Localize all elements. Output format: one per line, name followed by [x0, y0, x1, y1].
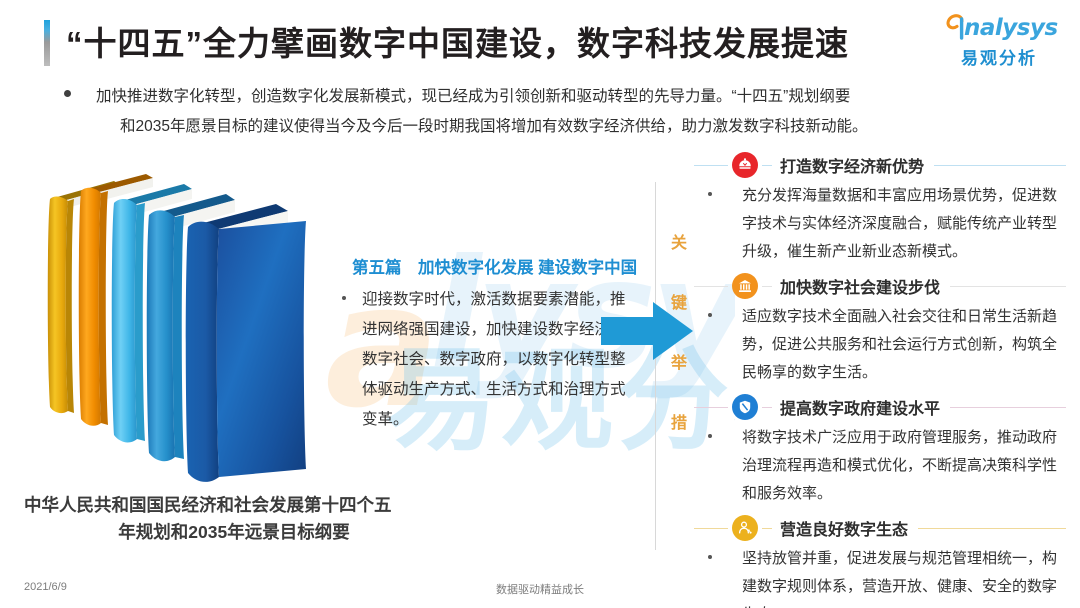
lead-paragraph: 加快推进数字化转型，创造数字化发展新模式，现已经成为引领创新和驱动转型的先导力量…	[64, 82, 1026, 142]
chapter-body: 迎接数字时代，激活数据要素潜能，推进网络强国建设，加快建设数字经济、数字社会、数…	[336, 285, 636, 435]
section-text: 将数字技术广泛应用于政府管理服务，推动政府治理流程再造和模式优化，不断提高决策科…	[742, 424, 1066, 508]
section-text: 适应数字技术全面融入社会交往和日常生活新趋势，促进公共服务和社会运行方式创新，构…	[742, 303, 1066, 387]
section-rule-left	[694, 165, 728, 166]
section-rule-mid	[762, 528, 772, 529]
logo-chinese-name: 易观分析	[940, 44, 1058, 69]
section-rule-mid	[762, 165, 772, 166]
books-caption-line-1: 中华人民共和国国民经济和社会发展第十四个五	[24, 495, 392, 515]
section-rule-right	[950, 286, 1066, 287]
right-arrow-icon	[601, 300, 693, 367]
section-rule-mid	[762, 407, 772, 408]
section-rule-left	[694, 528, 728, 529]
key-measures-panel: 打造数字经济新优势 充分发挥海量数据和丰富应用场景优势，促进数字技术与实体经济深…	[694, 150, 1066, 608]
government-building-icon	[732, 273, 758, 299]
books-caption: 中华人民共和国国民经济和社会发展第十四个五 年规划和2035年远景目标纲要	[24, 492, 444, 546]
books-illustration	[36, 163, 316, 493]
section-bullet-icon	[708, 192, 712, 196]
key-measures-char-0: 关	[668, 214, 690, 274]
chapter-bullet-icon	[342, 296, 346, 300]
lead-bullet-icon	[64, 90, 71, 97]
slide-footer: 2021/6/9 数据驱动精益成长 51	[0, 574, 1080, 608]
section-bullet-icon	[708, 313, 712, 317]
slide-root: a lysys 易观分析 “十四五”全力擘画数字中国建设，数字科技发展提速 na…	[0, 0, 1080, 608]
measure-section-0: 打造数字经济新优势 充分发挥海量数据和丰富应用场景优势，促进数字技术与实体经济深…	[694, 150, 1066, 266]
section-rule-right	[950, 407, 1066, 408]
books-caption-line-2: 年规划和2035年远景目标纲要	[24, 519, 444, 546]
section-text: 充分发挥海量数据和丰富应用场景优势，促进数字技术与实体经济深度融合，赋能传统产业…	[742, 182, 1066, 266]
user-ecosystem-icon	[732, 515, 758, 541]
shield-icon	[732, 394, 758, 420]
digital-economy-icon	[732, 152, 758, 178]
page-title: “十四五”全力擘画数字中国建设，数字科技发展提速	[66, 17, 849, 65]
section-rule-left	[694, 286, 728, 287]
section-title: 提高数字政府建设水平	[780, 395, 940, 419]
section-bullet-icon	[708, 434, 712, 438]
section-rule-mid	[762, 286, 772, 287]
section-title: 营造良好数字生态	[780, 516, 908, 540]
key-measures-char-3: 措	[668, 394, 690, 454]
chapter-heading: 第五篇 加快数字化发展 建设数字中国	[352, 254, 637, 278]
title-accent-bar	[44, 20, 50, 66]
section-title: 加快数字社会建设步伐	[780, 274, 940, 298]
analysys-logo: nalysys 易观分析	[940, 14, 1058, 66]
footer-slogan: 数据驱动精益成长	[496, 581, 584, 597]
chapter-body-text: 迎接数字时代，激活数据要素潜能，推进网络强国建设，加快建设数字经济、数字社会、数…	[362, 285, 636, 435]
measure-section-1: 加快数字社会建设步伐 适应数字技术全面融入社会交往和日常生活新趋势，促进公共服务…	[694, 271, 1066, 387]
footer-date: 2021/6/9	[24, 581, 67, 593]
footer-page-number: 51	[1042, 581, 1054, 593]
lead-line-2: 和2035年愿景目标的建议使得当今及今后一段时期我国将增加有效数字经济供给，助力…	[120, 112, 1026, 142]
section-title: 打造数字经济新优势	[780, 153, 924, 177]
measure-section-2: 提高数字政府建设水平 将数字技术广泛应用于政府管理服务，推动政府治理流程再造和模…	[694, 392, 1066, 508]
section-bullet-icon	[708, 555, 712, 559]
logo-wordmark: nalysys	[964, 15, 1058, 41]
section-rule-right	[918, 528, 1066, 529]
lead-line-1: 加快推进数字化转型，创造数字化发展新模式，现已经成为引领创新和驱动转型的先导力量…	[96, 88, 850, 105]
section-rule-left	[694, 407, 728, 408]
section-rule-right	[934, 165, 1066, 166]
